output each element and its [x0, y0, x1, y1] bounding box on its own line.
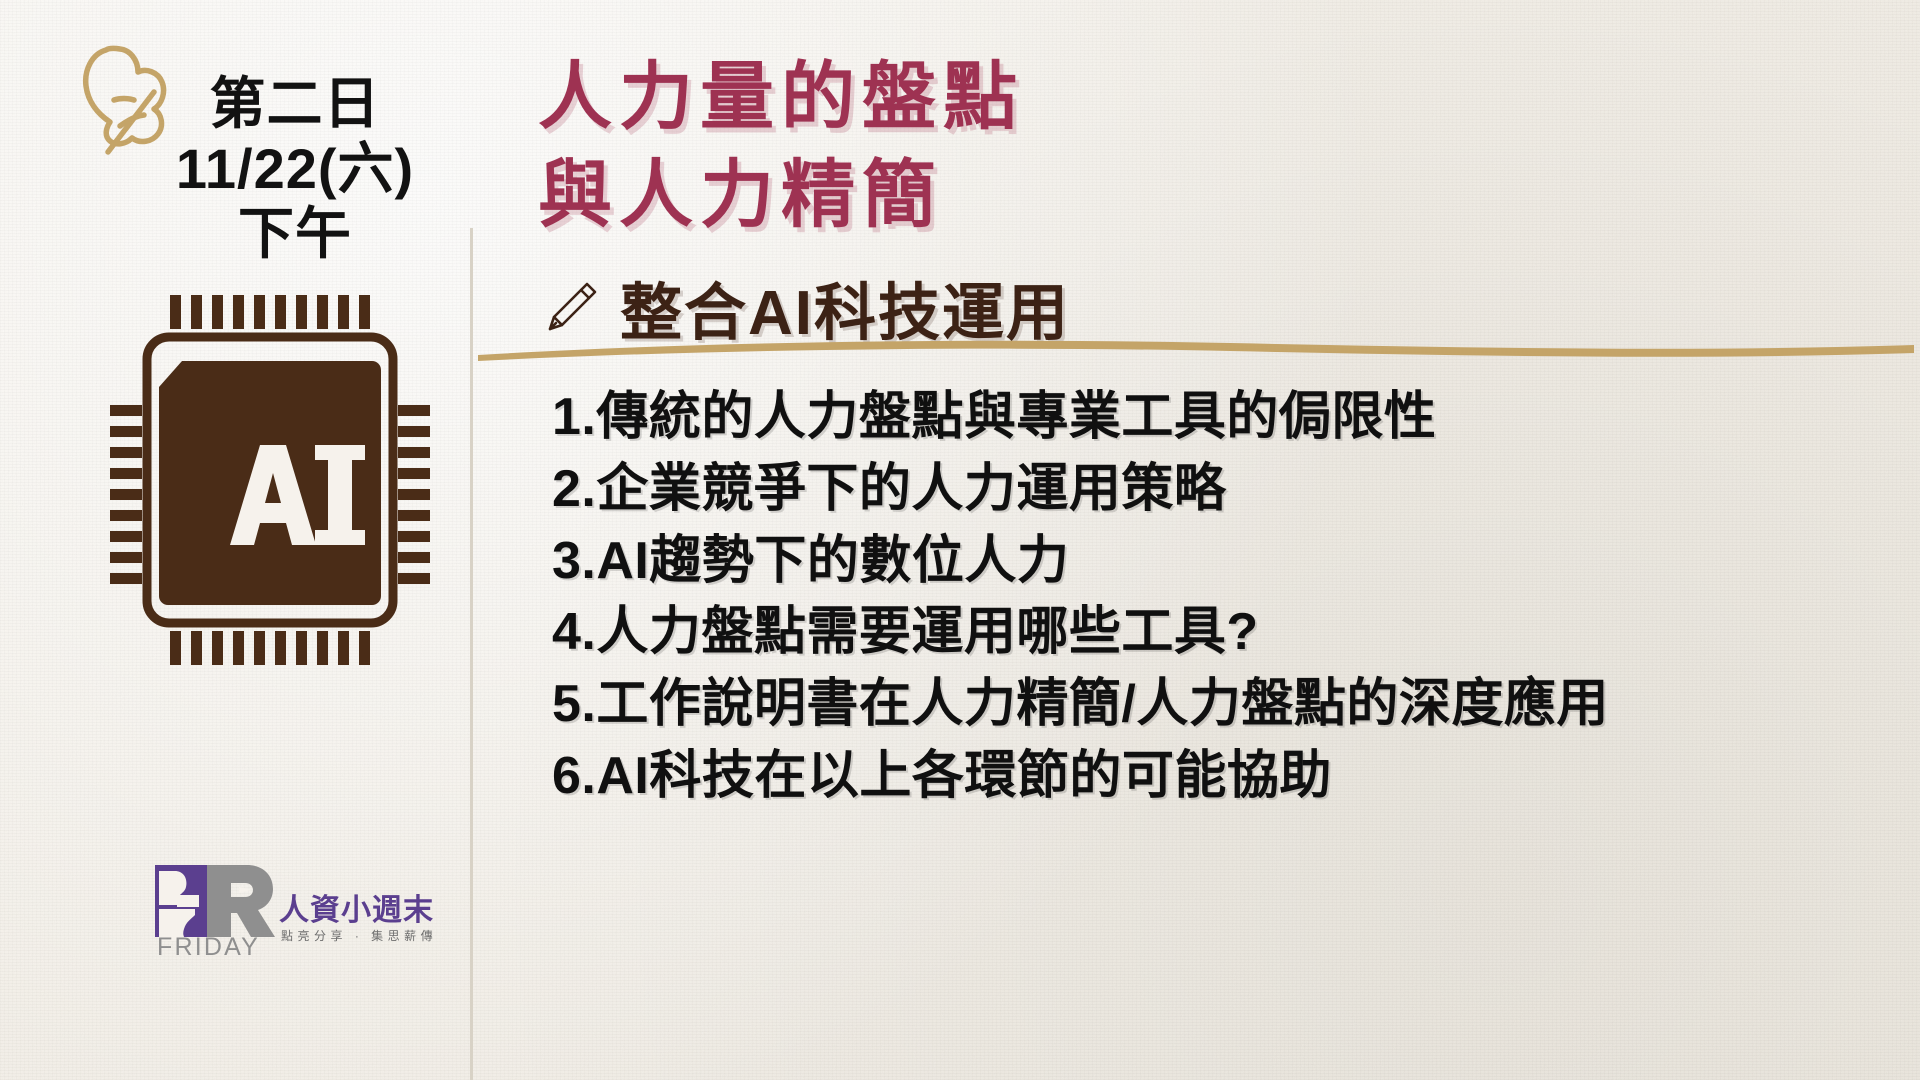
poster-canvas: 第二日 11/22(六) 下午: [0, 0, 1920, 1080]
agenda-list: 1.傳統的人力盤點與專業工具的侷限性 2.企業競爭下的人力運用策略 3.AI趨勢…: [552, 382, 1912, 813]
session-date-block: 第二日 11/22(六) 下午: [130, 72, 460, 267]
svg-text:FRIDAY: FRIDAY: [157, 933, 260, 957]
page-title-line-1: 人力量的盤點: [538, 48, 1878, 146]
agenda-item: 6.AI科技在以上各環節的可能協助: [552, 741, 1912, 813]
hr-logo-mark: FRIDAY: [155, 865, 275, 957]
right-panel: 人力量的盤點 與人力精簡 整合AI科技運用 1.傳統的人力盤點與專業工具的侷限性…: [470, 0, 1920, 1080]
hr-friday-logo: FRIDAY 人資小週末 點亮分享 · 集思薪傳: [155, 865, 425, 960]
left-panel: 第二日 11/22(六) 下午: [0, 0, 470, 1080]
logo-tagline: 點亮分享 · 集思薪傳: [281, 927, 437, 944]
agenda-item: 3.AI趨勢下的數位人力: [552, 526, 1912, 598]
pencil-icon: [540, 276, 602, 338]
session-date-label: 11/22(六): [130, 137, 460, 202]
page-title-line-2: 與人力精簡: [538, 146, 1878, 244]
session-time-label: 下午: [130, 202, 460, 267]
session-day-label: 第二日: [130, 72, 460, 137]
agenda-item: 2.企業競爭下的人力運用策略: [552, 454, 1912, 526]
logo-brand-cn: 人資小週末: [279, 885, 434, 929]
agenda-item: 5.工作說明書在人力精簡/人力盤點的深度應用: [552, 669, 1912, 741]
agenda-item: 1.傳統的人力盤點與專業工具的侷限性: [552, 382, 1912, 454]
gold-brush-divider: [470, 336, 1920, 362]
ai-chip-icon: [110, 295, 430, 665]
agenda-item: 4.人力盤點需要運用哪些工具?: [552, 597, 1912, 669]
page-title: 人力量的盤點 與人力精簡: [538, 48, 1878, 245]
